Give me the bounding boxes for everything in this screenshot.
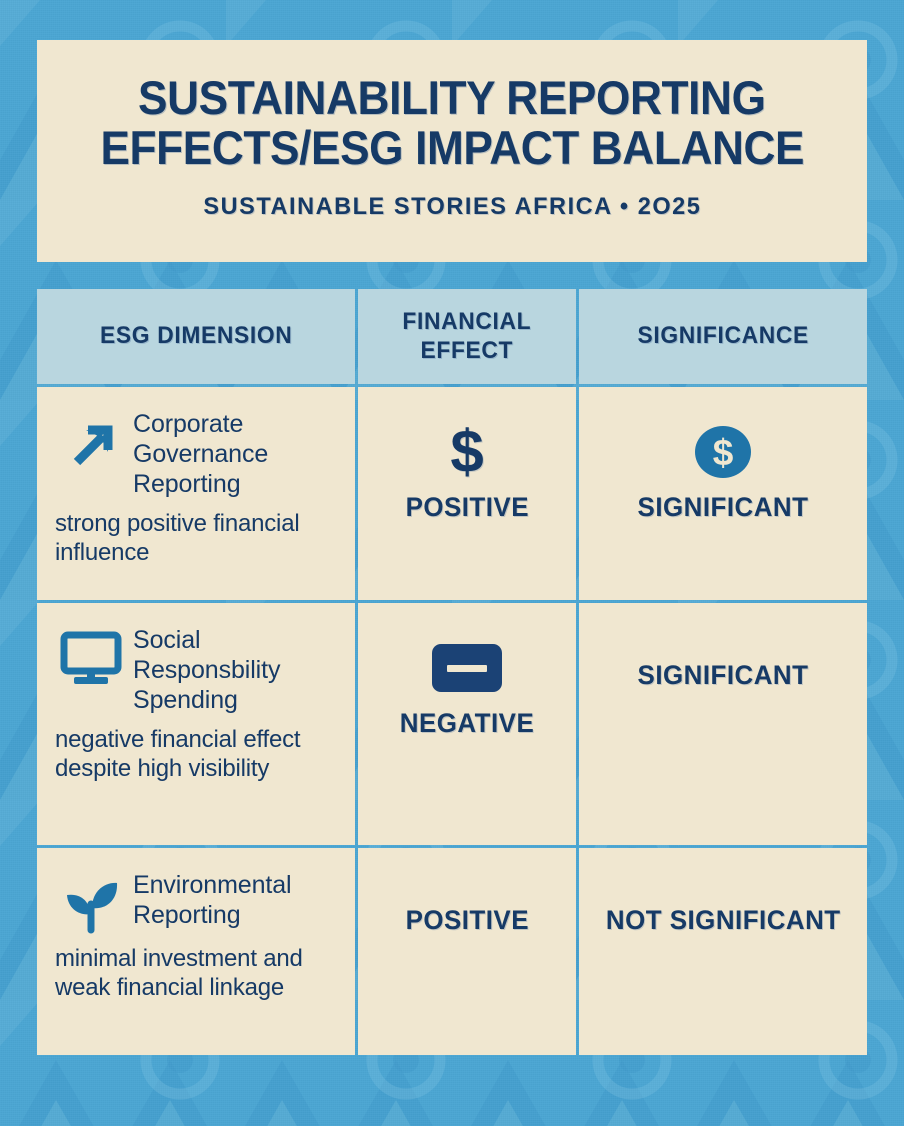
column-header-line-1: FINANCIAL — [402, 308, 531, 337]
table-row: Corporate Governance Reporting strong po… — [37, 387, 867, 600]
table-row: Environmental Reporting minimal investme… — [37, 848, 867, 1055]
significance-label: SIGNIFICANT — [638, 659, 809, 691]
dollar-coin-icon: $ — [695, 421, 751, 483]
significance-cell: $ SIGNIFICANT — [579, 387, 867, 600]
financial-effect-cell: POSITIVE — [358, 848, 576, 1055]
significance-label: NOT SIGNIFICANT — [606, 904, 841, 936]
minus-badge — [432, 644, 502, 692]
column-header-label: ESG DIMENSION — [100, 322, 292, 351]
minus-bar — [447, 665, 487, 672]
arrow-up-right-icon — [55, 409, 127, 477]
dimension-name-main: Responsbility Spending — [133, 656, 280, 714]
table-row: Social Responsbility Spending negative f… — [37, 603, 867, 845]
dimension-name: Social Responsbility Spending — [133, 625, 339, 715]
dimension-name: Corporate Governance Reporting — [133, 409, 339, 499]
monitor-icon — [55, 625, 127, 687]
financial-effect-cell: $ POSITIVE — [358, 387, 576, 600]
column-header-label: FINANCIAL EFFECT — [402, 308, 531, 366]
dimension-description: strong positive financial influence — [55, 509, 339, 568]
esg-dimension-cell: Environmental Reporting minimal investme… — [37, 848, 355, 1055]
esg-dimension-cell: Corporate Governance Reporting strong po… — [37, 387, 355, 600]
seedling-icon — [55, 870, 127, 934]
significance-cell: NOT SIGNIFICANT — [579, 848, 867, 1055]
column-header-financial-effect: FINANCIAL EFFECT — [358, 289, 576, 384]
financial-effect-label: NEGATIVE — [400, 707, 534, 739]
page-title-line-2: EFFECTS/ESG IMPACT BALANCE — [100, 123, 804, 173]
page-title-line-1: SUSTAINABILITY REPORTING — [138, 73, 766, 123]
dimension-name: Environmental Reporting — [133, 870, 339, 930]
dimension-heading: Corporate Governance Reporting — [55, 409, 339, 499]
column-header-significance: SIGNIFICANCE — [579, 289, 867, 384]
minus-square-icon — [432, 637, 502, 699]
financial-effect-label: POSITIVE — [405, 904, 528, 936]
esg-dimension-cell: Social Responsbility Spending negative f… — [37, 603, 355, 845]
dimension-description: minimal investment and weak financial li… — [55, 944, 339, 1003]
dimension-heading: Environmental Reporting — [55, 870, 339, 934]
financial-effect-label: POSITIVE — [405, 491, 528, 523]
coin-glyph: $ — [713, 434, 734, 471]
significance-label: SIGNIFICANT — [638, 491, 809, 523]
dimension-heading: Social Responsbility Spending — [55, 625, 339, 715]
dollar-sign-icon: $ — [450, 421, 483, 483]
significance-cell: SIGNIFICANT — [579, 603, 867, 845]
coin-badge: $ — [695, 426, 751, 478]
column-header-esg-dimension: ESG DIMENSION — [37, 289, 355, 384]
title-card: SUSTAINABILITY REPORTING EFFECTS/ESG IMP… — [37, 40, 867, 262]
dimension-description: negative financial effect despite high v… — [55, 725, 339, 784]
financial-effect-cell: NEGATIVE — [358, 603, 576, 845]
dollar-glyph: $ — [450, 422, 483, 482]
column-header-line-2: EFFECT — [402, 337, 531, 366]
page-subtitle: SUSTAINABLE STORIES AFRICA • 2O25 — [203, 193, 701, 221]
esg-impact-table: ESG DIMENSION FINANCIAL EFFECT SIGNIFICA… — [37, 289, 867, 1055]
table-header-row: ESG DIMENSION FINANCIAL EFFECT SIGNIFICA… — [37, 289, 867, 384]
column-header-label: SIGNIFICANCE — [637, 322, 808, 351]
dimension-name-prefix: Social — [133, 626, 201, 654]
